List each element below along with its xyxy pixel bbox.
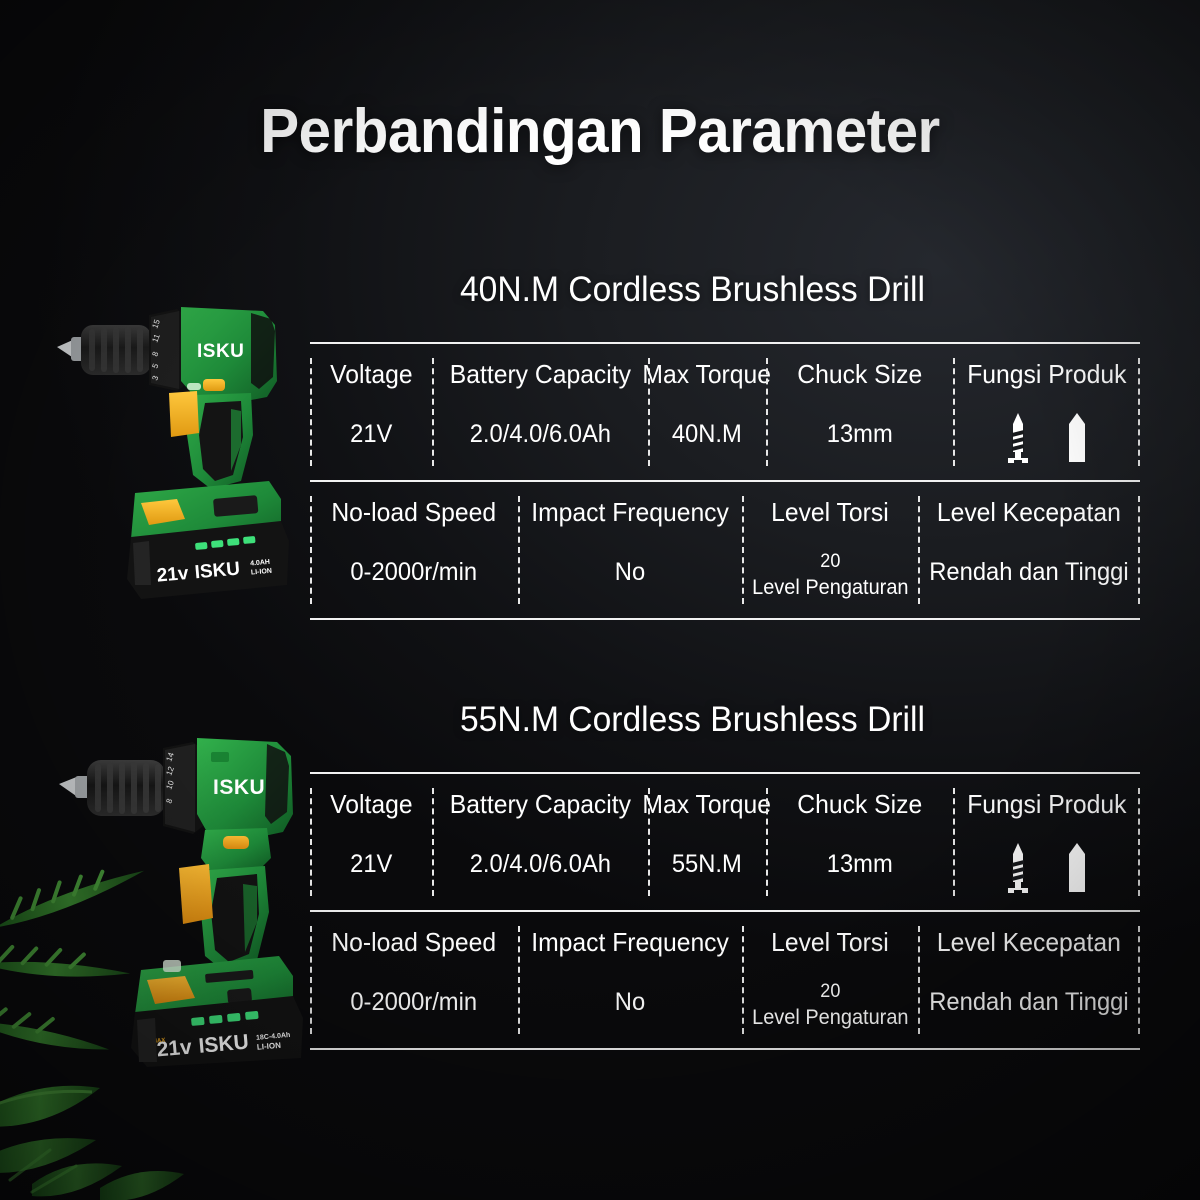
page-title: Perbandingan Parameter [36, 96, 1164, 167]
spec-row-primary: Voltage 21V Battery Capacity 2.0/4.0/6.0… [310, 344, 1140, 480]
spec-value: 21V [350, 850, 392, 879]
spec-head: Voltage [330, 790, 412, 820]
spec-cell-level-torsi: Level Torsi 20 Level Pengaturan [742, 912, 918, 1048]
spec-value-top: 20 [752, 980, 908, 1004]
product-block-55nm: 55N.M Cordless Brushless Drill Voltage 2… [0, 700, 1200, 1080]
spec-cell-chuck-size: Chuck Size 13mm [766, 774, 953, 910]
spec-cell-fungsi-produk: Fungsi Produk [953, 344, 1140, 480]
spec-cell-voltage: Voltage 21V [310, 344, 432, 480]
spec-row-primary: Voltage 21V Battery Capacity 2.0/4.0/6.0… [310, 774, 1140, 910]
spec-table-40nm: Voltage 21V Battery Capacity 2.0/4.0/6.0… [310, 342, 1140, 620]
infographic-page: Perbandingan Parameter [0, 0, 1200, 1200]
spec-value-bottom: Level Pengaturan [752, 574, 908, 601]
spec-head: Battery Capacity [449, 360, 630, 390]
product-heading-40nm: 40N.M Cordless Brushless Drill [460, 270, 925, 310]
spec-cell-level-torsi: Level Torsi 20 Level Pengaturan [742, 482, 918, 618]
spec-cell-battery-capacity: Battery Capacity 2.0/4.0/6.0Ah [432, 774, 648, 910]
spec-cell-max-torque: Max Torque 40N.M [648, 344, 766, 480]
spec-head: Fungsi Produk [967, 360, 1126, 390]
spec-head: Max Torque [643, 790, 772, 820]
spec-head: Impact Frequency [531, 928, 729, 958]
spec-head: Level Torsi [771, 498, 889, 528]
spec-cell-impact-frequency: Impact Frequency No [518, 482, 742, 618]
fungsi-produk-icons [1005, 408, 1089, 464]
spec-cell-impact-frequency: Impact Frequency No [518, 912, 742, 1048]
table-rule-bottom [310, 618, 1140, 620]
spec-cell-no-load-speed: No-load Speed 0-2000r/min [310, 482, 518, 618]
spec-head: Max Torque [643, 360, 772, 390]
spec-value: 20 Level Pengaturan [752, 550, 908, 601]
product-heading-55nm: 55N.M Cordless Brushless Drill [460, 700, 925, 740]
product-block-40nm: 40N.M Cordless Brushless Drill Voltage 2… [0, 270, 1200, 650]
spec-head: Level Kecepatan [937, 498, 1121, 528]
spec-head: Chuck Size [797, 790, 922, 820]
spec-value: 13mm [827, 850, 893, 879]
spec-cell-fungsi-produk: Fungsi Produk [953, 774, 1140, 910]
spec-row-secondary: No-load Speed 0-2000r/min Impact Frequen… [310, 482, 1140, 618]
spec-value-top: 20 [752, 550, 908, 574]
spec-head: No-load Speed [332, 928, 497, 958]
fungsi-produk-icons [1005, 838, 1089, 894]
spec-value: Rendah dan Tinggi [929, 558, 1128, 587]
spec-row-secondary: No-load Speed 0-2000r/min Impact Frequen… [310, 912, 1140, 1048]
spec-value: 0-2000r/min [351, 988, 478, 1017]
screw-bit-icon [1005, 842, 1031, 894]
spec-head: No-load Speed [332, 498, 497, 528]
masonry-bit-icon [1065, 412, 1089, 464]
spec-head: Impact Frequency [531, 498, 729, 528]
spec-head: Chuck Size [797, 360, 922, 390]
spec-value: 21V [350, 420, 392, 449]
spec-value: 55N.M [672, 850, 742, 879]
screw-bit-icon [1005, 412, 1031, 464]
spec-head: Battery Capacity [449, 790, 630, 820]
spec-cell-chuck-size: Chuck Size 13mm [766, 344, 953, 480]
spec-head: Level Torsi [771, 928, 889, 958]
spec-value-bottom: Level Pengaturan [752, 1004, 908, 1031]
spec-cell-level-kecepatan: Level Kecepatan Rendah dan Tinggi [918, 912, 1140, 1048]
spec-value: Rendah dan Tinggi [929, 988, 1128, 1017]
spec-cell-max-torque: Max Torque 55N.M [648, 774, 766, 910]
spec-value: 40N.M [672, 420, 742, 449]
masonry-bit-icon [1065, 842, 1089, 894]
spec-value: No [615, 558, 645, 587]
spec-value: 2.0/4.0/6.0Ah [469, 420, 610, 449]
spec-cell-voltage: Voltage 21V [310, 774, 432, 910]
spec-head: Level Kecepatan [937, 928, 1121, 958]
spec-value: 20 Level Pengaturan [752, 980, 908, 1031]
spec-head: Fungsi Produk [967, 790, 1126, 820]
spec-value: 13mm [827, 420, 893, 449]
spec-table-55nm: Voltage 21V Battery Capacity 2.0/4.0/6.0… [310, 772, 1140, 1050]
spec-cell-no-load-speed: No-load Speed 0-2000r/min [310, 912, 518, 1048]
spec-value: 2.0/4.0/6.0Ah [469, 850, 610, 879]
spec-cell-battery-capacity: Battery Capacity 2.0/4.0/6.0Ah [432, 344, 648, 480]
table-rule-bottom [310, 1048, 1140, 1050]
spec-value: 0-2000r/min [351, 558, 478, 587]
spec-head: Voltage [330, 360, 412, 390]
spec-value: No [615, 988, 645, 1017]
spec-cell-level-kecepatan: Level Kecepatan Rendah dan Tinggi [918, 482, 1140, 618]
